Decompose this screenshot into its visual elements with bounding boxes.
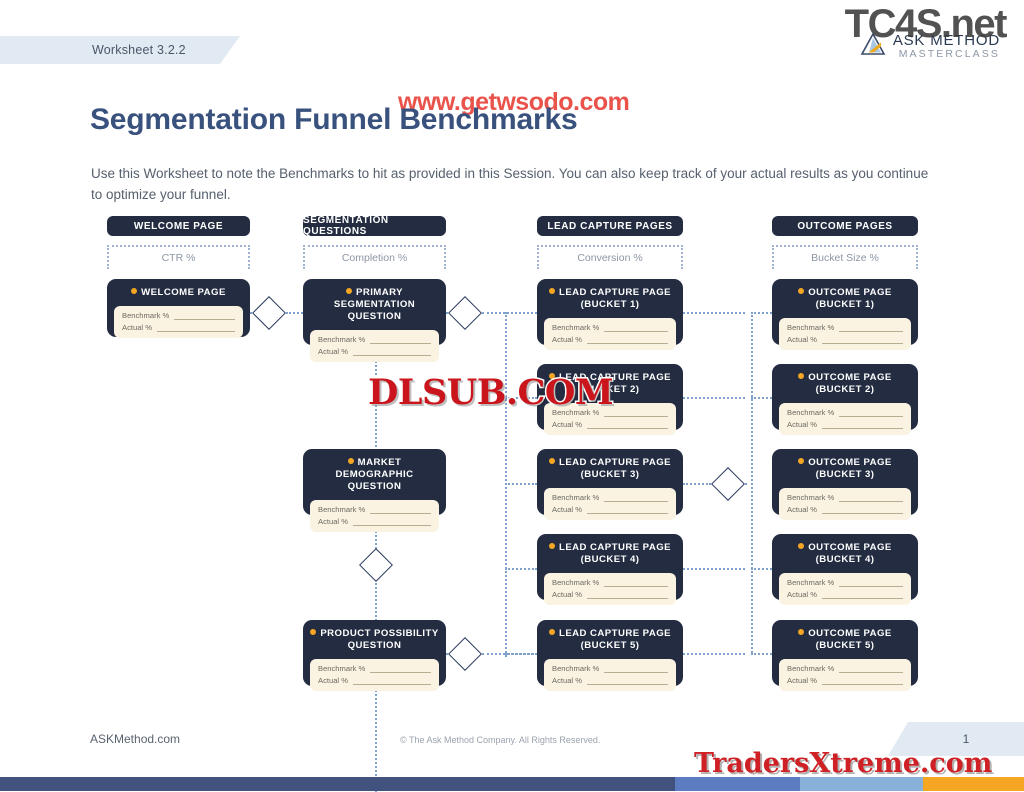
benchmark-input[interactable]: [839, 493, 903, 502]
metric-bracket: Conversion %: [537, 245, 683, 269]
field-row: Actual %: [552, 420, 668, 429]
benchmark-fields: Benchmark %Actual %: [779, 573, 911, 605]
funnel-card[interactable]: WELCOME PAGEBenchmark %Actual %: [107, 279, 250, 337]
bullet-dot-icon: [549, 543, 555, 549]
bullet-dot-icon: [131, 288, 137, 294]
field-label: Actual %: [122, 323, 152, 332]
bullet-dot-icon: [549, 288, 555, 294]
intro-paragraph: Use this Worksheet to note the Benchmark…: [91, 164, 933, 206]
funnel-card[interactable]: OUTCOME PAGE(BUCKET 1)Benchmark %Actual …: [772, 279, 918, 345]
field-label: Actual %: [552, 676, 582, 685]
field-label: Actual %: [787, 676, 817, 685]
benchmark-fields: Benchmark %Actual %: [114, 306, 243, 338]
funnel-card[interactable]: PRIMARY SEGMENTATIONQUESTIONBenchmark %A…: [303, 279, 446, 345]
junction-diamond: [359, 548, 393, 582]
funnel-card[interactable]: OUTCOME PAGE(BUCKET 2)Benchmark %Actual …: [772, 364, 918, 430]
benchmark-input[interactable]: [839, 578, 903, 587]
funnel-card[interactable]: PRODUCT POSSIBILITYQUESTIONBenchmark %Ac…: [303, 620, 446, 686]
connector-line: [683, 483, 711, 485]
funnel-card[interactable]: OUTCOME PAGE(BUCKET 3)Benchmark %Actual …: [772, 449, 918, 515]
funnel-card[interactable]: LEAD CAPTURE PAGE(BUCKET 3)Benchmark %Ac…: [537, 449, 683, 515]
bullet-dot-icon: [798, 373, 804, 379]
bottom-color-bar: [0, 777, 1024, 791]
field-label: Actual %: [318, 676, 348, 685]
actual-input[interactable]: [587, 335, 668, 344]
card-title: LEAD CAPTURE PAGE(BUCKET 1): [544, 287, 676, 311]
card-title: LEAD CAPTURE PAGE(BUCKET 5): [544, 628, 676, 652]
metric-label: Bucket Size %: [811, 252, 879, 264]
field-label: Actual %: [552, 335, 582, 344]
actual-input[interactable]: [822, 590, 903, 599]
column-header: LEAD CAPTURE PAGES: [537, 216, 683, 236]
connector-line: [286, 312, 303, 314]
field-label: Benchmark %: [318, 335, 365, 344]
connector-line: [751, 568, 772, 570]
field-row: Benchmark %: [787, 578, 903, 587]
benchmark-fields: Benchmark %Actual %: [310, 659, 439, 691]
bullet-dot-icon: [346, 288, 352, 294]
bullet-dot-icon: [310, 629, 316, 635]
field-label: Actual %: [787, 505, 817, 514]
field-label: Benchmark %: [787, 664, 834, 673]
benchmark-input[interactable]: [839, 408, 903, 417]
field-row: Benchmark %: [122, 311, 235, 320]
benchmark-input[interactable]: [839, 323, 903, 332]
connector-line: [505, 653, 537, 655]
footer-copyright: © The Ask Method Company. All Rights Res…: [400, 735, 600, 745]
connector-line: [683, 312, 745, 314]
benchmark-fields: Benchmark %Actual %: [779, 659, 911, 691]
benchmark-input[interactable]: [604, 408, 668, 417]
field-label: Benchmark %: [787, 408, 834, 417]
funnel-card[interactable]: MARKET DEMOGRAPHICQUESTIONBenchmark %Act…: [303, 449, 446, 515]
card-title: OUTCOME PAGE(BUCKET 4): [779, 542, 911, 566]
actual-input[interactable]: [587, 590, 668, 599]
connector-line: [751, 397, 772, 399]
connector-line: [683, 653, 745, 655]
funnel-column: LEAD CAPTURE PAGESConversion %: [537, 216, 683, 269]
connector-line: [751, 312, 772, 314]
color-bar-segment: [0, 777, 675, 791]
junction-diamond: [711, 467, 745, 501]
field-row: Benchmark %: [787, 408, 903, 417]
field-label: Benchmark %: [318, 505, 365, 514]
field-row: Actual %: [787, 505, 903, 514]
junction-diamond: [448, 637, 482, 671]
benchmark-input[interactable]: [174, 311, 235, 320]
field-row: Actual %: [787, 335, 903, 344]
bullet-dot-icon: [348, 458, 354, 464]
actual-input[interactable]: [353, 347, 431, 356]
funnel-column: WELCOME PAGECTR %: [107, 216, 250, 269]
actual-input[interactable]: [587, 420, 668, 429]
field-row: Benchmark %: [318, 664, 431, 673]
field-row: Benchmark %: [787, 323, 903, 332]
actual-input[interactable]: [353, 676, 431, 685]
benchmark-input[interactable]: [370, 664, 431, 673]
field-row: Actual %: [122, 323, 235, 332]
funnel-diagram: WELCOME PAGECTR %WELCOME PAGEBenchmark %…: [0, 216, 1024, 706]
card-title: WELCOME PAGE: [114, 287, 243, 299]
benchmark-fields: Benchmark %Actual %: [310, 500, 439, 532]
connector-line: [751, 312, 753, 653]
junction-diamond: [252, 296, 286, 330]
field-label: Benchmark %: [122, 311, 169, 320]
benchmark-input[interactable]: [604, 323, 668, 332]
brand-subtitle: MASTERCLASS: [893, 49, 1000, 60]
field-row: Benchmark %: [318, 335, 431, 344]
card-title: OUTCOME PAGE(BUCKET 5): [779, 628, 911, 652]
benchmark-input[interactable]: [604, 493, 668, 502]
field-label: Benchmark %: [787, 493, 834, 502]
field-row: Benchmark %: [552, 578, 668, 587]
field-row: Benchmark %: [787, 493, 903, 502]
watermark-tradersxtreme: TradersXtreme.com: [694, 748, 992, 779]
bullet-dot-icon: [549, 629, 555, 635]
funnel-card[interactable]: LEAD CAPTURE PAGE(BUCKET 1)Benchmark %Ac…: [537, 279, 683, 345]
funnel-card[interactable]: LEAD CAPTURE PAGE(BUCKET 4)Benchmark %Ac…: [537, 534, 683, 600]
card-title: LEAD CAPTURE PAGE(BUCKET 3): [544, 457, 676, 481]
bullet-dot-icon: [798, 288, 804, 294]
metric-bracket: Bucket Size %: [772, 245, 918, 269]
connector-line: [683, 568, 745, 570]
field-row: Actual %: [318, 517, 431, 526]
field-row: Actual %: [552, 590, 668, 599]
card-title: MARKET DEMOGRAPHICQUESTION: [310, 457, 439, 493]
benchmark-fields: Benchmark %Actual %: [779, 403, 911, 435]
connector-line: [482, 312, 537, 314]
field-row: Benchmark %: [552, 493, 668, 502]
funnel-card[interactable]: OUTCOME PAGE(BUCKET 4)Benchmark %Actual …: [772, 534, 918, 600]
actual-input[interactable]: [822, 676, 903, 685]
card-title: OUTCOME PAGE(BUCKET 2): [779, 372, 911, 396]
benchmark-fields: Benchmark %Actual %: [544, 659, 676, 691]
footer-site-link[interactable]: ASKMethod.com: [90, 732, 180, 746]
color-bar-segment: [675, 777, 800, 791]
benchmark-fields: Benchmark %Actual %: [779, 318, 911, 350]
metric-label: Completion %: [342, 252, 407, 264]
actual-input[interactable]: [157, 323, 235, 332]
connector-line: [683, 397, 745, 399]
field-label: Benchmark %: [552, 664, 599, 673]
field-label: Actual %: [552, 505, 582, 514]
field-label: Benchmark %: [552, 493, 599, 502]
metric-label: CTR %: [162, 252, 196, 264]
color-bar-segment: [800, 777, 923, 791]
benchmark-fields: Benchmark %Actual %: [544, 318, 676, 350]
card-title: OUTCOME PAGE(BUCKET 3): [779, 457, 911, 481]
actual-input[interactable]: [822, 505, 903, 514]
field-label: Benchmark %: [552, 323, 599, 332]
field-row: Benchmark %: [787, 664, 903, 673]
card-title: PRODUCT POSSIBILITYQUESTION: [310, 628, 439, 652]
actual-input[interactable]: [353, 517, 431, 526]
funnel-card[interactable]: OUTCOME PAGE(BUCKET 5)Benchmark %Actual …: [772, 620, 918, 686]
funnel-card[interactable]: LEAD CAPTURE PAGE(BUCKET 5)Benchmark %Ac…: [537, 620, 683, 686]
field-row: Actual %: [787, 676, 903, 685]
field-row: Benchmark %: [552, 664, 668, 673]
column-header: OUTCOME PAGES: [772, 216, 918, 236]
metric-label: Conversion %: [577, 252, 642, 264]
field-row: Actual %: [552, 505, 668, 514]
field-row: Actual %: [318, 347, 431, 356]
actual-input[interactable]: [822, 420, 903, 429]
field-row: Actual %: [552, 676, 668, 685]
funnel-column: OUTCOME PAGESBucket Size %: [772, 216, 918, 269]
funnel-column: SEGMENTATION QUESTIONSCompletion %: [303, 216, 446, 269]
field-row: Benchmark %: [552, 323, 668, 332]
benchmark-fields: Benchmark %Actual %: [544, 488, 676, 520]
bullet-dot-icon: [549, 458, 555, 464]
field-row: Actual %: [318, 676, 431, 685]
worksheet-tab: Worksheet 3.2.2: [0, 36, 220, 64]
page-title: Segmentation Funnel Benchmarks: [90, 103, 577, 137]
field-row: Actual %: [787, 420, 903, 429]
card-title: PRIMARY SEGMENTATIONQUESTION: [310, 287, 439, 323]
benchmark-input[interactable]: [604, 664, 668, 673]
metric-bracket: CTR %: [107, 245, 250, 269]
field-label: Actual %: [787, 420, 817, 429]
benchmark-input[interactable]: [370, 335, 431, 344]
field-label: Actual %: [787, 335, 817, 344]
watermark-tc4s: TC4S.net: [845, 2, 1006, 47]
bullet-dot-icon: [798, 458, 804, 464]
field-label: Actual %: [787, 590, 817, 599]
field-label: Actual %: [552, 420, 582, 429]
benchmark-input[interactable]: [839, 664, 903, 673]
card-title: OUTCOME PAGE(BUCKET 1): [779, 287, 911, 311]
card-title: LEAD CAPTURE PAGE(BUCKET 4): [544, 542, 676, 566]
bullet-dot-icon: [798, 543, 804, 549]
field-label: Benchmark %: [552, 578, 599, 587]
benchmark-fields: Benchmark %Actual %: [310, 330, 439, 362]
benchmark-input[interactable]: [604, 578, 668, 587]
field-label: Actual %: [552, 590, 582, 599]
actual-input[interactable]: [587, 676, 668, 685]
actual-input[interactable]: [822, 335, 903, 344]
actual-input[interactable]: [587, 505, 668, 514]
field-label: Actual %: [318, 517, 348, 526]
benchmark-fields: Benchmark %Actual %: [779, 488, 911, 520]
column-header: SEGMENTATION QUESTIONS: [303, 216, 446, 236]
worksheet-tab-label: Worksheet 3.2.2: [92, 43, 186, 57]
field-row: Actual %: [552, 335, 668, 344]
column-header: WELCOME PAGE: [107, 216, 250, 236]
color-bar-segment: [923, 777, 1024, 791]
bullet-dot-icon: [798, 629, 804, 635]
field-label: Benchmark %: [318, 664, 365, 673]
connector-line: [505, 483, 537, 485]
junction-diamond: [448, 296, 482, 330]
connector-line: [505, 568, 537, 570]
benchmark-fields: Benchmark %Actual %: [544, 573, 676, 605]
field-row: Benchmark %: [318, 505, 431, 514]
watermark-dlsub: DLSUB.COM: [368, 372, 613, 413]
field-label: Actual %: [318, 347, 348, 356]
connector-line: [751, 653, 772, 655]
metric-bracket: Completion %: [303, 245, 446, 269]
benchmark-input[interactable]: [370, 505, 431, 514]
field-label: Benchmark %: [787, 578, 834, 587]
field-label: Benchmark %: [787, 323, 834, 332]
field-row: Actual %: [787, 590, 903, 599]
